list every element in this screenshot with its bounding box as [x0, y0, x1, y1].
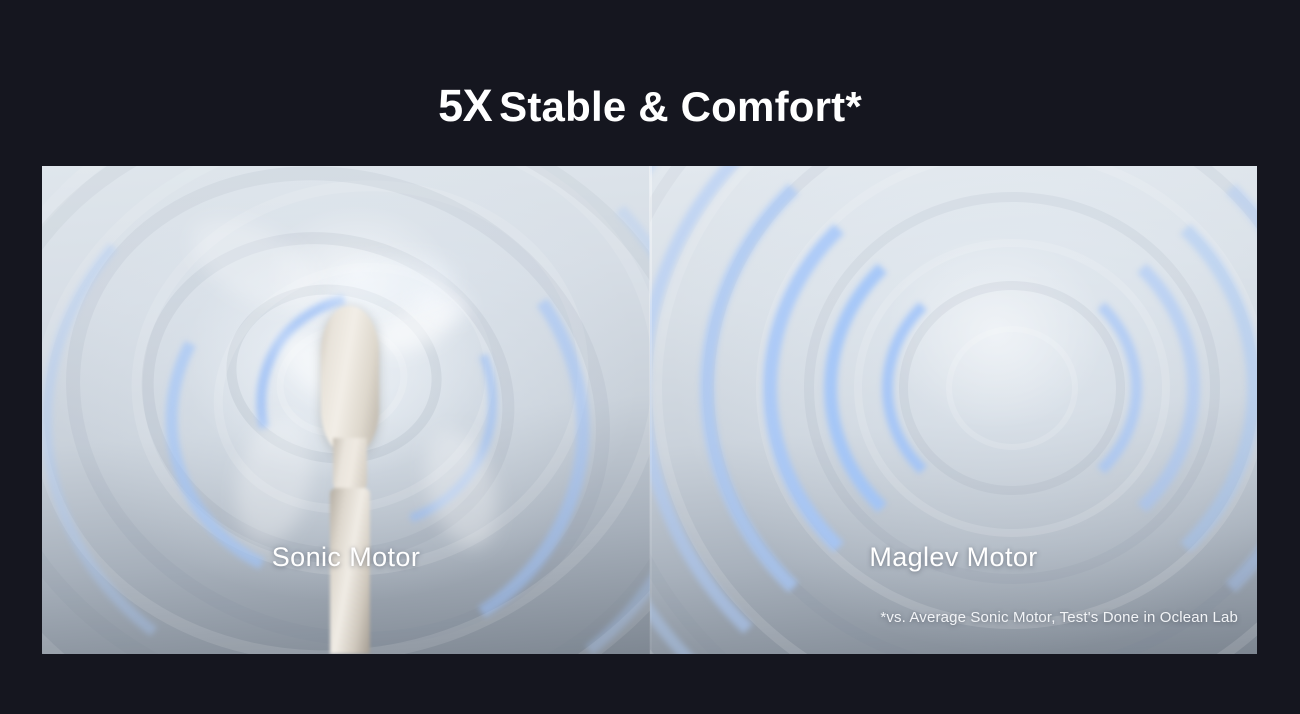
label-maglev-motor: Maglev Motor — [650, 542, 1257, 573]
page-title: 5XStable & Comfort* — [0, 74, 1300, 139]
panel-sonic-motor — [42, 166, 650, 654]
headline-multiplier: 5X — [438, 80, 492, 131]
headline-phrase: Stable & Comfort* — [499, 83, 862, 130]
silk-background-sonic — [42, 166, 650, 654]
hero-comparison-image: Sonic Motor Maglev Motor *vs. Average So… — [42, 166, 1257, 654]
panel-maglev-motor — [650, 166, 1257, 654]
silk-background-maglev — [650, 166, 1257, 654]
label-sonic-motor: Sonic Motor — [42, 542, 650, 573]
footnote-disclaimer: *vs. Average Sonic Motor, Test's Done in… — [880, 609, 1238, 626]
